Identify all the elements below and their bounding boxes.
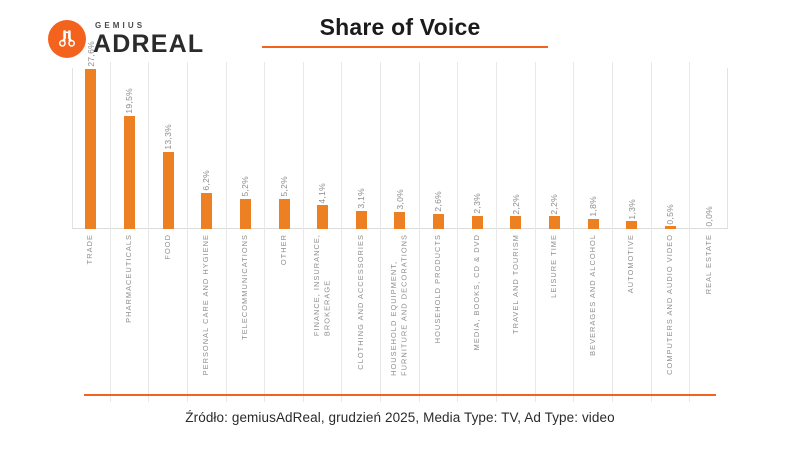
bar: [85, 69, 96, 229]
bar-column: 3,1%CLOTHING AND ACCESSORIES: [342, 62, 381, 402]
bar-column: 2,2%LEISURE TIME: [536, 62, 575, 402]
bar-column: 2,3%MEDIA, BOOKS, CD & DVD: [458, 62, 497, 402]
bar-group: 5,2%: [227, 62, 265, 229]
bar: [665, 226, 676, 229]
bar-value-label: 1,3%: [628, 199, 637, 220]
bar: [394, 212, 405, 229]
bar-column: 5,2%OTHER: [265, 62, 304, 402]
category-label: TRAVEL AND TOURISM: [497, 234, 535, 334]
bar-column: 13,3%FOOD: [149, 62, 188, 402]
bar-column: 4,1%FINANCE, INSURANCE, BROKERAGE: [304, 62, 343, 402]
bar-column: 1,3%AUTOMOTIVE: [613, 62, 652, 402]
category-label: FINANCE, INSURANCE, BROKERAGE: [304, 234, 342, 336]
bar-group: 3,1%: [342, 62, 380, 229]
bar-group: 27,6%: [72, 62, 110, 229]
bar-column: 5,2%TELECOMMUNICATIONS: [227, 62, 266, 402]
category-label: COMPUTERS AND AUDIO VIDEO: [652, 234, 690, 375]
bar: [201, 193, 212, 229]
bar-group: 0,0%: [690, 62, 728, 229]
bar-group: 4,1%: [304, 62, 342, 229]
bar-group: 2,3%: [458, 62, 496, 229]
category-label: CLOTHING AND ACCESSORIES: [342, 234, 380, 370]
bar-column: 0,5%COMPUTERS AND AUDIO VIDEO: [652, 62, 691, 402]
category-label: OTHER: [265, 234, 303, 265]
bar: [510, 216, 521, 229]
title-underline: [262, 46, 548, 48]
bar-group: 6,2%: [188, 62, 226, 229]
bar-value-label: 0,0%: [705, 206, 714, 227]
bar-value-label: 2,2%: [512, 194, 521, 215]
category-label: PERSONAL CARE AND HYGIENE: [188, 234, 226, 375]
bar-group: 19,5%: [111, 62, 149, 229]
bar-value-label: 4,1%: [318, 183, 327, 204]
category-label: PHARMACEUTICALS: [111, 234, 149, 323]
category-label: BEVERAGES AND ALCOHOL: [574, 234, 612, 356]
bar-value-label: 3,1%: [357, 188, 366, 209]
bar: [356, 211, 367, 229]
bar-value-label: 2,6%: [434, 191, 443, 212]
category-label: TRADE: [72, 234, 110, 264]
bar-group: 5,2%: [265, 62, 303, 229]
bar-group: 3,0%: [381, 62, 419, 229]
bar-value-label: 5,2%: [241, 176, 250, 197]
category-label: FOOD: [149, 234, 187, 260]
bar: [549, 216, 560, 229]
category-label: LEISURE TIME: [536, 234, 574, 298]
bar-column: 2,2%TRAVEL AND TOURISM: [497, 62, 536, 402]
bar: [240, 199, 251, 229]
bar-group: 0,5%: [652, 62, 690, 229]
bar-group: 2,6%: [420, 62, 458, 229]
bar-group: 2,2%: [536, 62, 574, 229]
bar-value-label: 2,2%: [550, 194, 559, 215]
bar-column: 19,5%PHARMACEUTICALS: [111, 62, 150, 402]
bar-columns: 27,6%TRADE19,5%PHARMACEUTICALS13,3%FOOD6…: [72, 62, 728, 402]
bar-value-label: 13,3%: [164, 124, 173, 150]
category-label: REAL ESTATE: [690, 234, 728, 294]
bar-value-label: 6,2%: [202, 170, 211, 191]
bar: [588, 219, 599, 229]
bar: [163, 152, 174, 229]
bar: [472, 216, 483, 229]
bar-column: 6,2%PERSONAL CARE AND HYGIENE: [188, 62, 227, 402]
bar-value-label: 3,0%: [396, 189, 405, 210]
bar-value-label: 0,5%: [666, 204, 675, 225]
source-note: Źródło: gemiusAdReal, grudzień 2025, Med…: [0, 410, 800, 425]
bar-group: 2,2%: [497, 62, 535, 229]
bar-column: 1,8%BEVERAGES AND ALCOHOL: [574, 62, 613, 402]
bar: [124, 116, 135, 229]
bar: [433, 214, 444, 229]
share-of-voice-bar-chart: 27,6%TRADE19,5%PHARMACEUTICALS13,3%FOOD6…: [72, 62, 728, 229]
bar: [279, 199, 290, 229]
bar-group: 13,3%: [149, 62, 187, 229]
bar-column: 0,0%REAL ESTATE: [690, 62, 728, 402]
bar: [626, 221, 637, 229]
bar-value-label: 1,8%: [589, 196, 598, 217]
category-label: AUTOMOTIVE: [613, 234, 651, 293]
category-label: HOUSEHOLD EQUIPMENT, FURNITURE AND DECOR…: [381, 234, 419, 376]
bar-group: 1,8%: [574, 62, 612, 229]
footer-divider: [84, 394, 716, 396]
slide-root: GEMIUS ADREAL Share of Voice 27,6%TRADE1…: [0, 0, 800, 450]
bar: [317, 205, 328, 229]
bar-value-label: 19,5%: [125, 88, 134, 114]
bar-value-label: 2,3%: [473, 193, 482, 214]
page-title: Share of Voice: [0, 14, 800, 41]
category-label: HOUSEHOLD PRODUCTS: [420, 234, 458, 343]
category-label: MEDIA, BOOKS, CD & DVD: [458, 234, 496, 350]
bar-column: 3,0%HOUSEHOLD EQUIPMENT, FURNITURE AND D…: [381, 62, 420, 402]
category-label: TELECOMMUNICATIONS: [227, 234, 265, 340]
bar-column: 27,6%TRADE: [72, 62, 111, 402]
bar-value-label: 27,6%: [87, 41, 96, 67]
bar-group: 1,3%: [613, 62, 651, 229]
bar-column: 2,6%HOUSEHOLD PRODUCTS: [420, 62, 459, 402]
bar-value-label: 5,2%: [280, 176, 289, 197]
